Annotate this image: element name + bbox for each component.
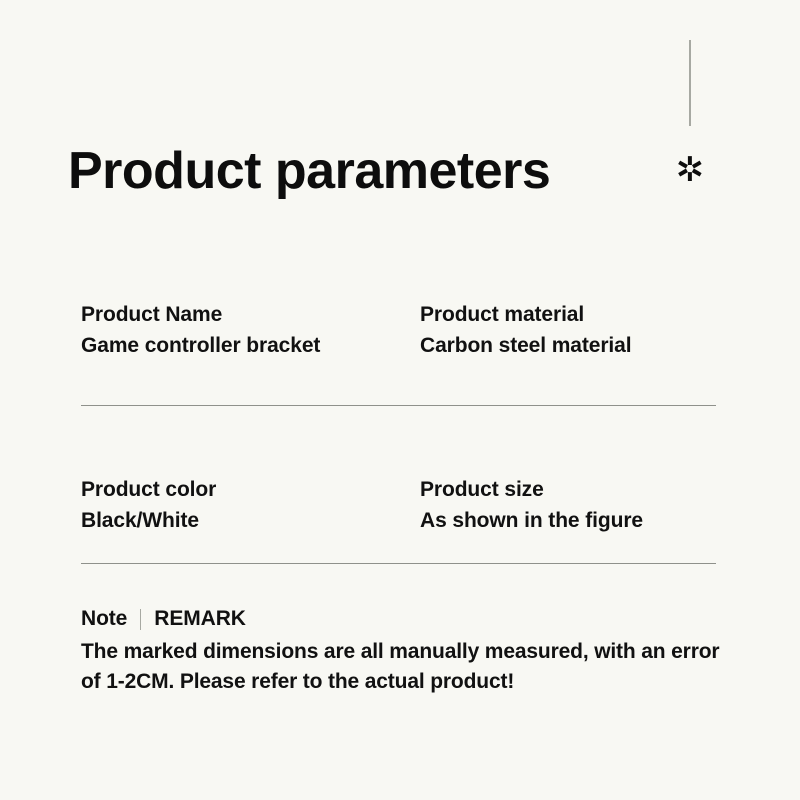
vertical-rule-decoration — [689, 40, 691, 126]
page-title: Product parameters — [68, 141, 550, 201]
spec-value: Carbon steel material — [420, 331, 717, 361]
table-row: Product color Black/White Product size A… — [81, 475, 717, 567]
spec-value: Black/White — [81, 506, 420, 536]
spec-label: Product Name — [81, 300, 420, 330]
note-section: Note REMARK The marked dimensions are al… — [81, 604, 731, 697]
note-heading-separator — [140, 609, 141, 630]
note-heading: Note REMARK — [81, 604, 731, 634]
spec-value: Game controller bracket — [81, 331, 420, 361]
row-divider-upper — [81, 405, 716, 406]
note-heading-secondary: REMARK — [154, 604, 246, 634]
note-heading-primary: Note — [81, 604, 127, 634]
spec-label: Product size — [420, 475, 717, 505]
spec-value: As shown in the figure — [420, 506, 717, 536]
asterisk-icon: ✲ — [672, 152, 708, 188]
spec-cell-product-material: Product material Carbon steel material — [420, 300, 717, 405]
note-body-text: The marked dimensions are all manually m… — [81, 637, 721, 697]
row-divider-lower — [81, 563, 716, 564]
spec-label: Product material — [420, 300, 717, 330]
table-row: Product Name Game controller bracket Pro… — [81, 300, 717, 405]
spec-label: Product color — [81, 475, 420, 505]
specifications-table: Product Name Game controller bracket Pro… — [81, 300, 717, 567]
spec-cell-product-color: Product color Black/White — [81, 475, 420, 567]
product-parameters-page: ✲ Product parameters Product Name Game c… — [0, 0, 800, 800]
spec-cell-product-size: Product size As shown in the figure — [420, 475, 717, 567]
spec-cell-product-name: Product Name Game controller bracket — [81, 300, 420, 405]
